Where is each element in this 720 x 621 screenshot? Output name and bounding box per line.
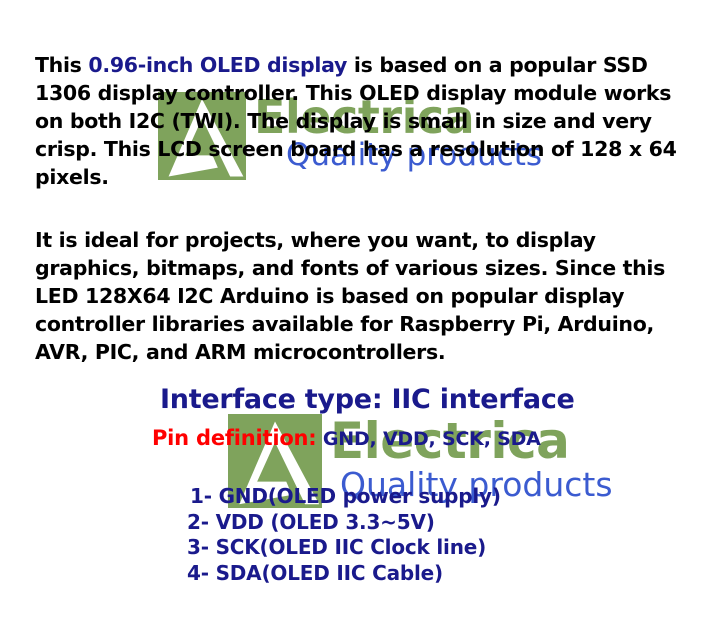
interface-type-heading: Interface type: IIC interface [160,384,575,416]
pin-list-item: 1- GND(OLED power supply) [187,484,501,510]
product-description-page: { "colors": { "text": "#000000", "accent… [0,0,720,621]
pin-list-item: 4- SDA(OLED IIC Cable) [187,561,501,587]
paragraph-lead-text: This [35,53,88,77]
paragraph-applications: It is ideal for projects, where you want… [35,226,700,366]
pin-list-item: 2- VDD (OLED 3.3~5V) [187,510,501,536]
pin-list-item: 3- SCK(OLED IIC Clock line) [187,535,501,561]
highlighted-product-name: 0.96-inch OLED display [88,53,347,77]
pin-list: 1- GND(OLED power supply) 2- VDD (OLED 3… [187,484,501,586]
pin-definition-line: Pin definition: GND, VDD, SCK, SDA [152,425,541,452]
pin-definition-value: GND, VDD, SCK, SDA [316,428,540,450]
paragraph-overview: This 0.96-inch OLED display is based on … [35,51,700,191]
pin-definition-label: Pin definition: [152,426,316,450]
